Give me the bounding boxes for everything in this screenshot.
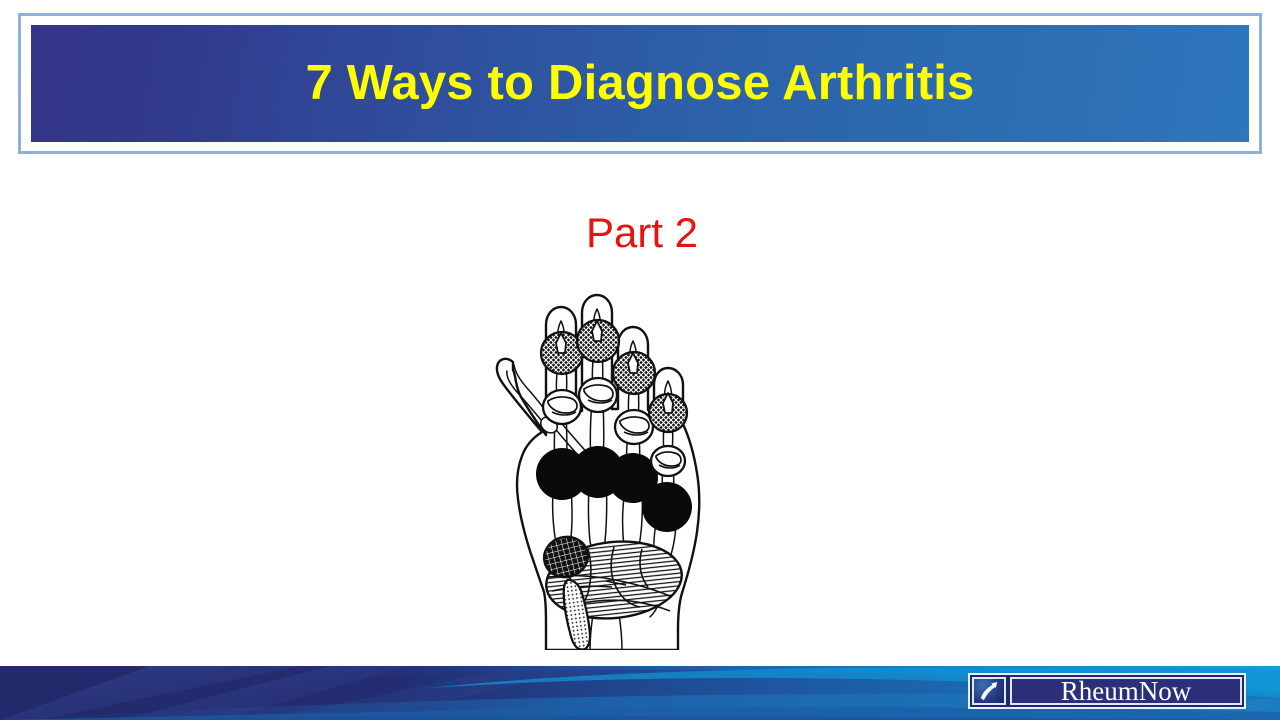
rheumnow-joint-mark-icon [972,677,1006,705]
rheumnow-logo[interactable]: RheumNow [968,673,1246,709]
joint-mark-svg [974,679,1004,703]
pip-marker-index [543,390,581,424]
part-label: Part 2 [0,212,1280,254]
hand-joint-diagram [466,285,756,650]
page-title: 7 Ways to Diagnose Arthritis [31,25,1249,142]
hand-diagram-svg [466,285,756,650]
slide-canvas: 7 Ways to Diagnose Arthritis Part 2 [0,0,1280,720]
pip-marker-middle [579,378,617,412]
rheumnow-wordmark: RheumNow [1010,677,1242,705]
pip-marker-ring [615,410,653,444]
pip-marker-little [651,446,685,476]
mcp-marker-little [642,482,692,532]
